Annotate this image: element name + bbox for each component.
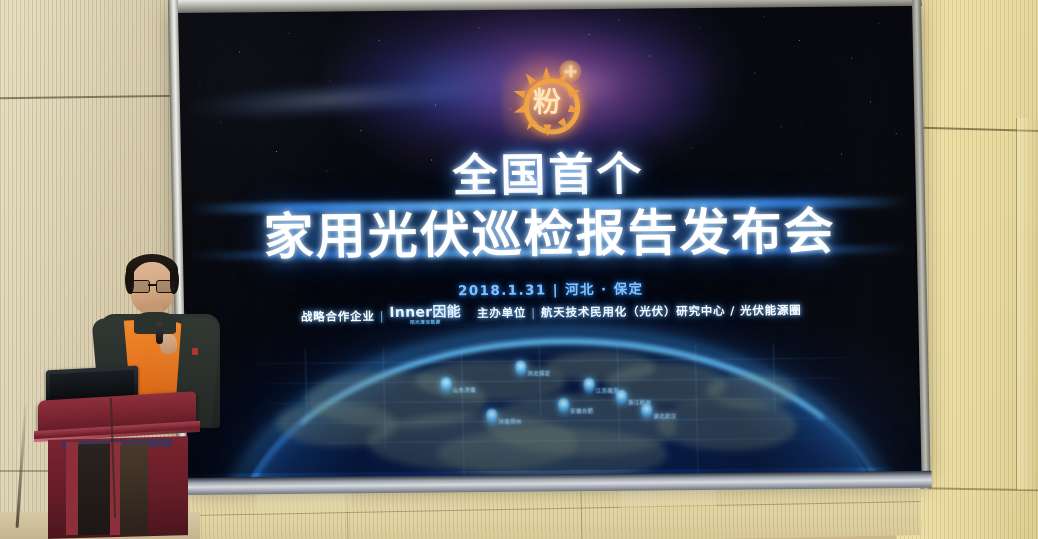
partner-logo-tagline: 阳光清洁能源 xyxy=(410,321,441,326)
star xyxy=(851,58,852,59)
credit-partner-label: 战略合作企业 xyxy=(301,308,375,325)
slide-title-line-2: 家用光伏巡检报告发布会 xyxy=(182,191,917,270)
map-pin-label: 山东济南 xyxy=(453,386,476,394)
globe-longitude-line xyxy=(305,349,307,419)
star xyxy=(649,55,650,56)
star xyxy=(239,51,240,52)
podium-panel-right xyxy=(120,444,148,536)
glasses-icon xyxy=(129,280,176,292)
star xyxy=(780,126,781,127)
star xyxy=(878,23,879,24)
star xyxy=(754,72,755,73)
star xyxy=(799,40,800,41)
credit-partner-separator: | xyxy=(380,309,385,323)
slide-date-location: 2018.1.31 | 河北 · 保定 xyxy=(183,275,917,302)
jacket-collar xyxy=(134,312,176,334)
right-wall-edge-panel xyxy=(1016,118,1038,490)
glasses-lens-right xyxy=(156,280,176,293)
map-pin-label: 安徽合肥 xyxy=(570,407,593,415)
star xyxy=(870,101,871,102)
star xyxy=(379,40,380,41)
podium-panel-center xyxy=(78,444,110,536)
credit-organizer-separator: | xyxy=(531,306,536,320)
star xyxy=(618,20,619,21)
glasses-lens-left xyxy=(130,280,150,293)
map-pin-label: 河南郑州 xyxy=(498,418,521,426)
credit-organizer-value: 航天技术民用化（光伏）研究中心 / 光伏能源圈 xyxy=(541,302,802,320)
star xyxy=(896,133,897,134)
star xyxy=(763,16,764,17)
glasses-bridge xyxy=(148,284,156,286)
microphone-icon xyxy=(156,322,163,344)
slide-content: 粉 全国首个 家用光伏巡检报告发布会 2018.1.31 | 河北 · 保定 战… xyxy=(178,5,921,478)
credit-partner: 战略合作企业 | Inner因能 阳光清洁能源 xyxy=(301,305,462,327)
map-pin-label: 湖北武汉 xyxy=(653,412,676,420)
plus-icon xyxy=(559,60,581,82)
slide-emblem: 粉 xyxy=(499,52,607,141)
partner-logo-name: Inner因能 xyxy=(389,305,461,320)
map-pin-label: 河北保定 xyxy=(527,369,550,377)
landmass xyxy=(437,427,668,478)
podium xyxy=(34,396,200,539)
credit-organizer: 主办单位 | 航天技术民用化（光伏）研究中心 / 光伏能源圈 xyxy=(477,302,802,321)
star xyxy=(360,130,361,131)
jacket-logo-patch xyxy=(192,348,198,355)
credit-organizer-label: 主办单位 xyxy=(477,305,527,321)
partner-logo: Inner因能 阳光清洁能源 xyxy=(389,305,461,326)
star xyxy=(289,33,290,34)
projection-screen: 粉 全国首个 家用光伏巡检报告发布会 2018.1.31 | 河北 · 保定 战… xyxy=(176,1,924,488)
conference-photo-scene: 粉 全国首个 家用光伏巡检报告发布会 2018.1.31 | 河北 · 保定 战… xyxy=(0,0,1038,539)
star xyxy=(199,82,200,83)
